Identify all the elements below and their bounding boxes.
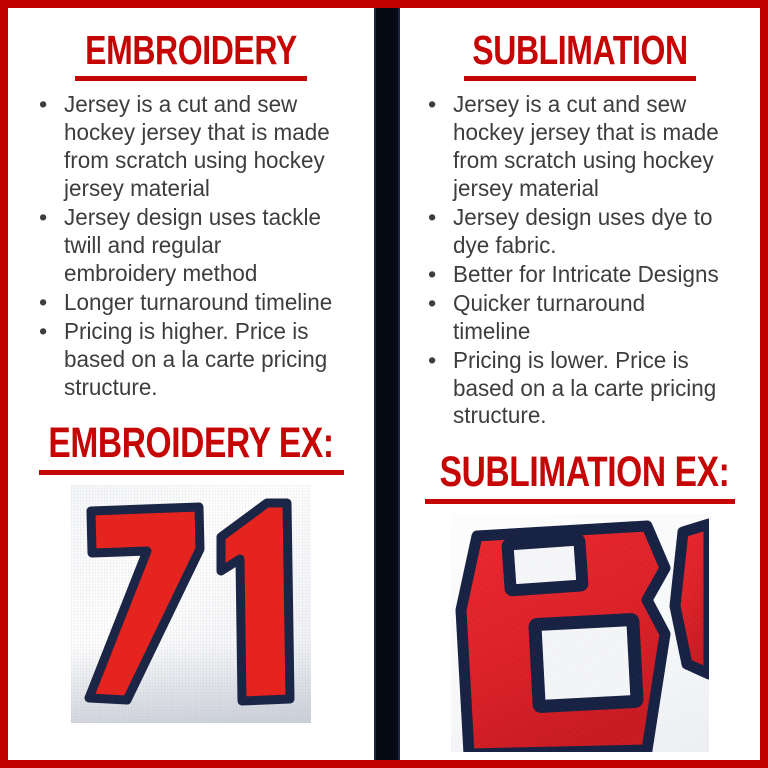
list-item: • Longer turnaround timeline [32,289,350,317]
column-divider [374,8,400,760]
tackle-twill-number-71 [71,485,311,723]
list-item: • Pricing is lower. Price is based on a … [421,347,739,431]
sublimation-example-heading-underline [425,499,735,504]
list-item-text: Jersey design uses tackle twill and regu… [64,204,337,288]
embroidery-example-heading-block: EMBROIDERY EX: [8,422,374,475]
sublimation-heading-underline [464,76,696,81]
sublimated-jersey-letter-photo [451,514,709,752]
bullet-glyph: • [39,289,49,317]
bullet-glyph: • [39,318,49,346]
list-item-text: Jersey design uses dye to dye fabric. [453,204,726,260]
list-item-text: Jersey is a cut and sew hockey jersey th… [64,91,337,203]
columns-container: EMBROIDERY • Jersey is a cut and sew hoc… [8,8,760,760]
embroidery-example-heading-underline [39,470,344,475]
list-item-text: Jersey is a cut and sew hockey jersey th… [453,91,726,203]
sublimation-column: SUBLIMATION • Jersey is a cut and sew ho… [400,8,760,760]
bullet-glyph: • [428,261,438,289]
bullet-glyph: • [428,347,438,375]
list-item-text: Pricing is higher. Price is based on a l… [64,318,337,402]
list-item: • Better for Intricate Designs [421,261,739,289]
sublimation-example-heading: SUBLIMATION EX: [440,451,721,494]
list-item: • Jersey is a cut and sew hockey jersey … [32,91,350,203]
sublimation-bullet-list: • Jersey is a cut and sew hockey jersey … [421,91,739,431]
bullet-glyph: • [39,91,49,119]
sublimation-heading: SUBLIMATION [440,30,721,71]
bullet-glyph: • [428,91,438,119]
list-item: • Jersey is a cut and sew hockey jersey … [421,91,739,203]
list-item-text: Pricing is lower. Price is based on a la… [453,347,726,431]
bullet-glyph: • [428,204,438,232]
embroidery-heading: EMBROIDERY [48,30,333,71]
list-item: • Jersey design uses dye to dye fabric. [421,204,739,260]
embroidery-heading-block: EMBROIDERY [8,30,374,81]
list-item-text: Quicker turnaround timeline [453,290,726,346]
embroidery-bullet-list: • Jersey is a cut and sew hockey jersey … [32,91,350,402]
comparison-infographic: EMBROIDERY • Jersey is a cut and sew hoc… [0,0,768,768]
embroidered-jersey-number-photo [71,485,311,723]
list-item: • Quicker turnaround timeline [421,290,739,346]
sublimation-heading-block: SUBLIMATION [400,30,760,81]
list-item-text: Better for Intricate Designs [453,261,726,289]
list-item-text: Longer turnaround timeline [64,289,337,317]
sublimated-letter-b [451,514,709,752]
embroidery-column: EMBROIDERY • Jersey is a cut and sew hoc… [8,8,374,760]
bullet-glyph: • [428,290,438,318]
list-item: • Pricing is higher. Price is based on a… [32,318,350,402]
embroidery-example-heading: EMBROIDERY EX: [48,422,333,465]
bullet-glyph: • [39,204,49,232]
sublimation-example-heading-block: SUBLIMATION EX: [400,451,760,504]
list-item: • Jersey design uses tackle twill and re… [32,204,350,288]
embroidery-heading-underline [75,76,307,81]
